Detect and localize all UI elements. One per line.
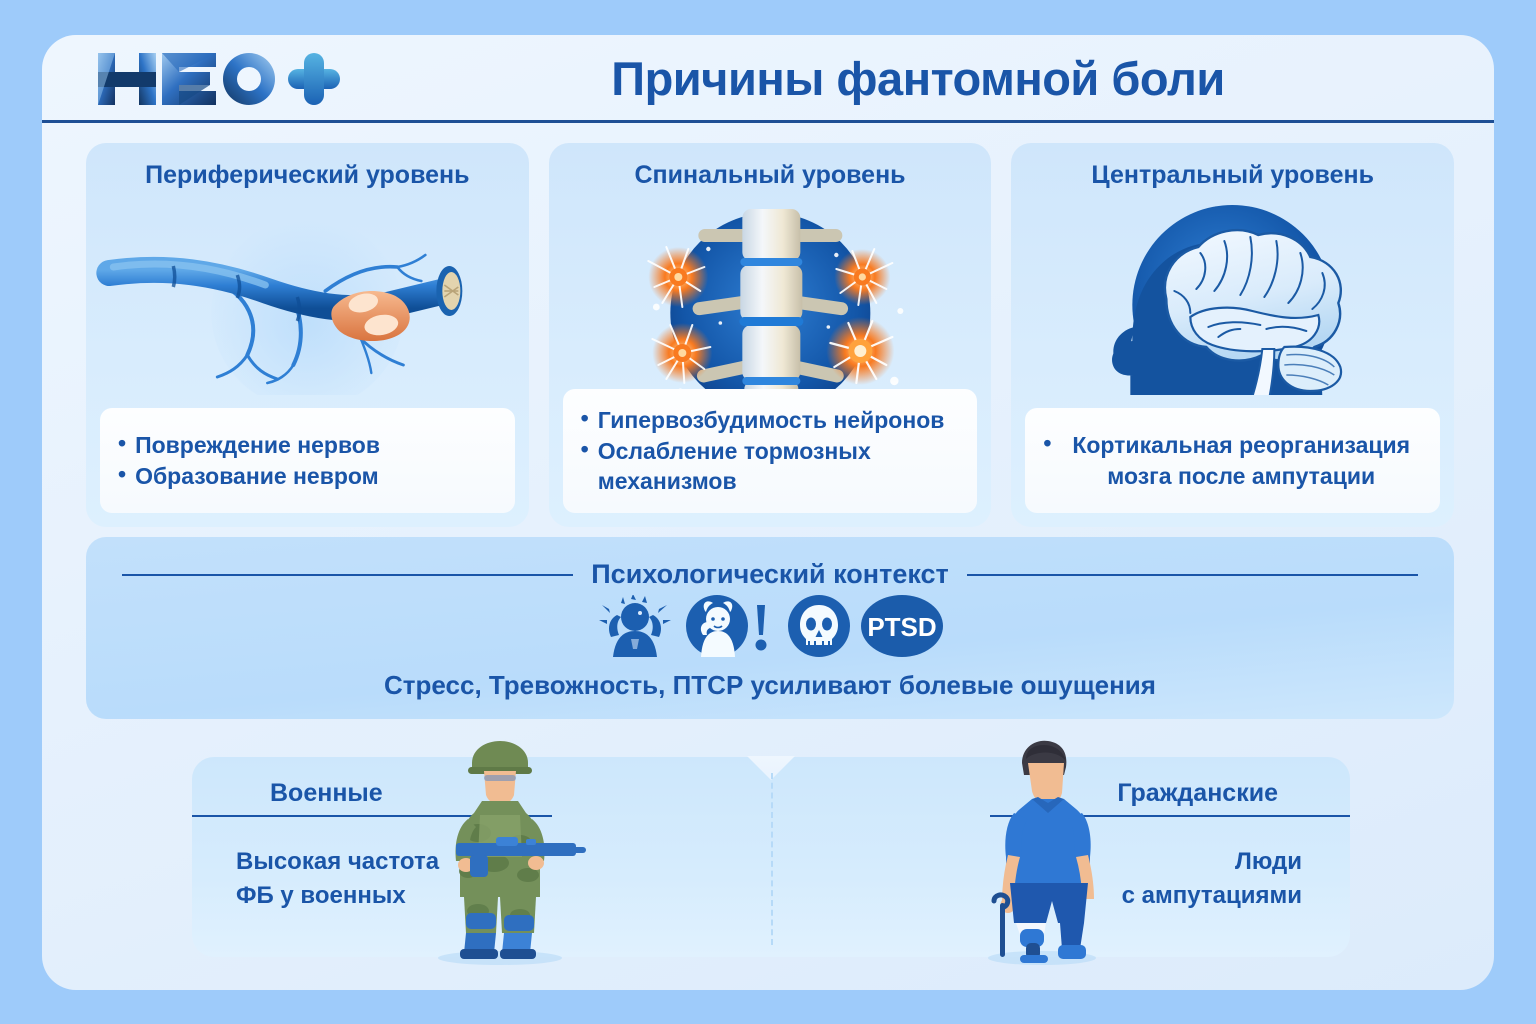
group-rule (990, 815, 1350, 817)
nerve-cut-end (436, 266, 462, 316)
spinal-cord-neurons-icon (549, 195, 992, 395)
psych-title: Психологический контекст (591, 559, 948, 590)
group-military[interactable]: Военные Высокая частота ФБ у военных (192, 757, 771, 957)
list-item: •Образование невром (118, 461, 497, 492)
damaged-nerve-neuroma-icon (86, 195, 529, 395)
ptsd-badge-icon: PTSD (861, 595, 943, 657)
list-item: •Кортикальная реорганизация мозга после … (1043, 430, 1422, 491)
psych-caption: Стресс, Тревожность, ПТСР усиливают боле… (86, 670, 1454, 701)
neo-plus-logo (92, 47, 342, 109)
level-card-spinal[interactable]: Спинальный уровень (549, 143, 992, 527)
head-brain-icon (1011, 195, 1454, 395)
logo-letter-e (162, 53, 216, 105)
skull-icon (787, 595, 851, 657)
poster-header: Причины фантомной боли (42, 35, 1494, 120)
group-title: Военные (270, 779, 383, 808)
level-bullets: •Кортикальная реорганизация мозга после … (1025, 408, 1440, 513)
group-description-line: с ампутациями (1122, 879, 1302, 913)
level-card-peripheral[interactable]: Периферический уровень (86, 143, 529, 527)
bullet-text: Повреждение нервов (135, 430, 380, 461)
level-title: Центральный уровень (1091, 161, 1374, 190)
bullet-dot: • (581, 405, 589, 433)
anxious-person-exclamation-icon (685, 595, 777, 657)
level-title: Периферический уровень (145, 161, 469, 190)
group-description: Высокая частота ФБ у военных (236, 845, 439, 913)
level-title: Спинальный уровень (634, 161, 905, 190)
list-item: •Повреждение нервов (118, 430, 497, 461)
heading-rule-right (967, 574, 1418, 576)
group-description-line: Высокая частота (236, 845, 439, 879)
ptsd-label: PTSD (867, 612, 936, 642)
bullet-dot: • (118, 461, 126, 489)
logo-plus-icon (288, 53, 340, 105)
bullet-text: Образование невром (135, 461, 379, 492)
bullet-text: Кортикальная реорганизация мозга после а… (1060, 430, 1422, 491)
bullet-dot: • (581, 436, 589, 464)
level-card-central[interactable]: Центральный уровень (1011, 143, 1454, 527)
header-divider (42, 120, 1494, 123)
group-description: Люди с ампутациями (1122, 845, 1302, 913)
group-description-line: ФБ у военных (236, 879, 439, 913)
logo-letter-h (98, 53, 156, 105)
list-item: •Ослабление тормозных механизмов (581, 436, 960, 497)
logo-letter-o (223, 53, 275, 105)
level-bullets: •Повреждение нервов •Образование невром (100, 408, 515, 513)
bullet-text: Гипервозбудимость нейронов (598, 405, 945, 436)
psych-heading: Психологический контекст (86, 559, 1454, 590)
group-rule (192, 815, 552, 817)
psych-icon-row: PTSD (86, 595, 1454, 657)
affected-groups-panel: Военные Высокая частота ФБ у военных Гра… (192, 757, 1350, 957)
page-title: Причины фантомной боли (372, 51, 1464, 106)
list-item: •Гипервозбудимость нейронов (581, 405, 960, 436)
heading-rule-left (122, 574, 573, 576)
bullet-dot: • (1043, 430, 1051, 458)
psychological-context-panel: Психологический контекст (86, 537, 1454, 719)
stressed-person-icon (597, 595, 675, 657)
group-title: Гражданские (1117, 779, 1278, 808)
group-civilian[interactable]: Гражданские Люди с ампутациями (771, 757, 1350, 957)
levels-row: Периферический уровень (86, 143, 1454, 527)
bullet-text: Ослабление тормозных механизмов (598, 436, 960, 497)
group-description-line: Люди (1122, 845, 1302, 879)
exclamation-mark (756, 605, 767, 651)
bullet-dot: • (118, 430, 126, 458)
level-bullets: •Гипервозбудимость нейронов •Ослабление … (563, 389, 978, 513)
infographic-poster: Причины фантомной боли Периферический ур… (42, 35, 1494, 990)
